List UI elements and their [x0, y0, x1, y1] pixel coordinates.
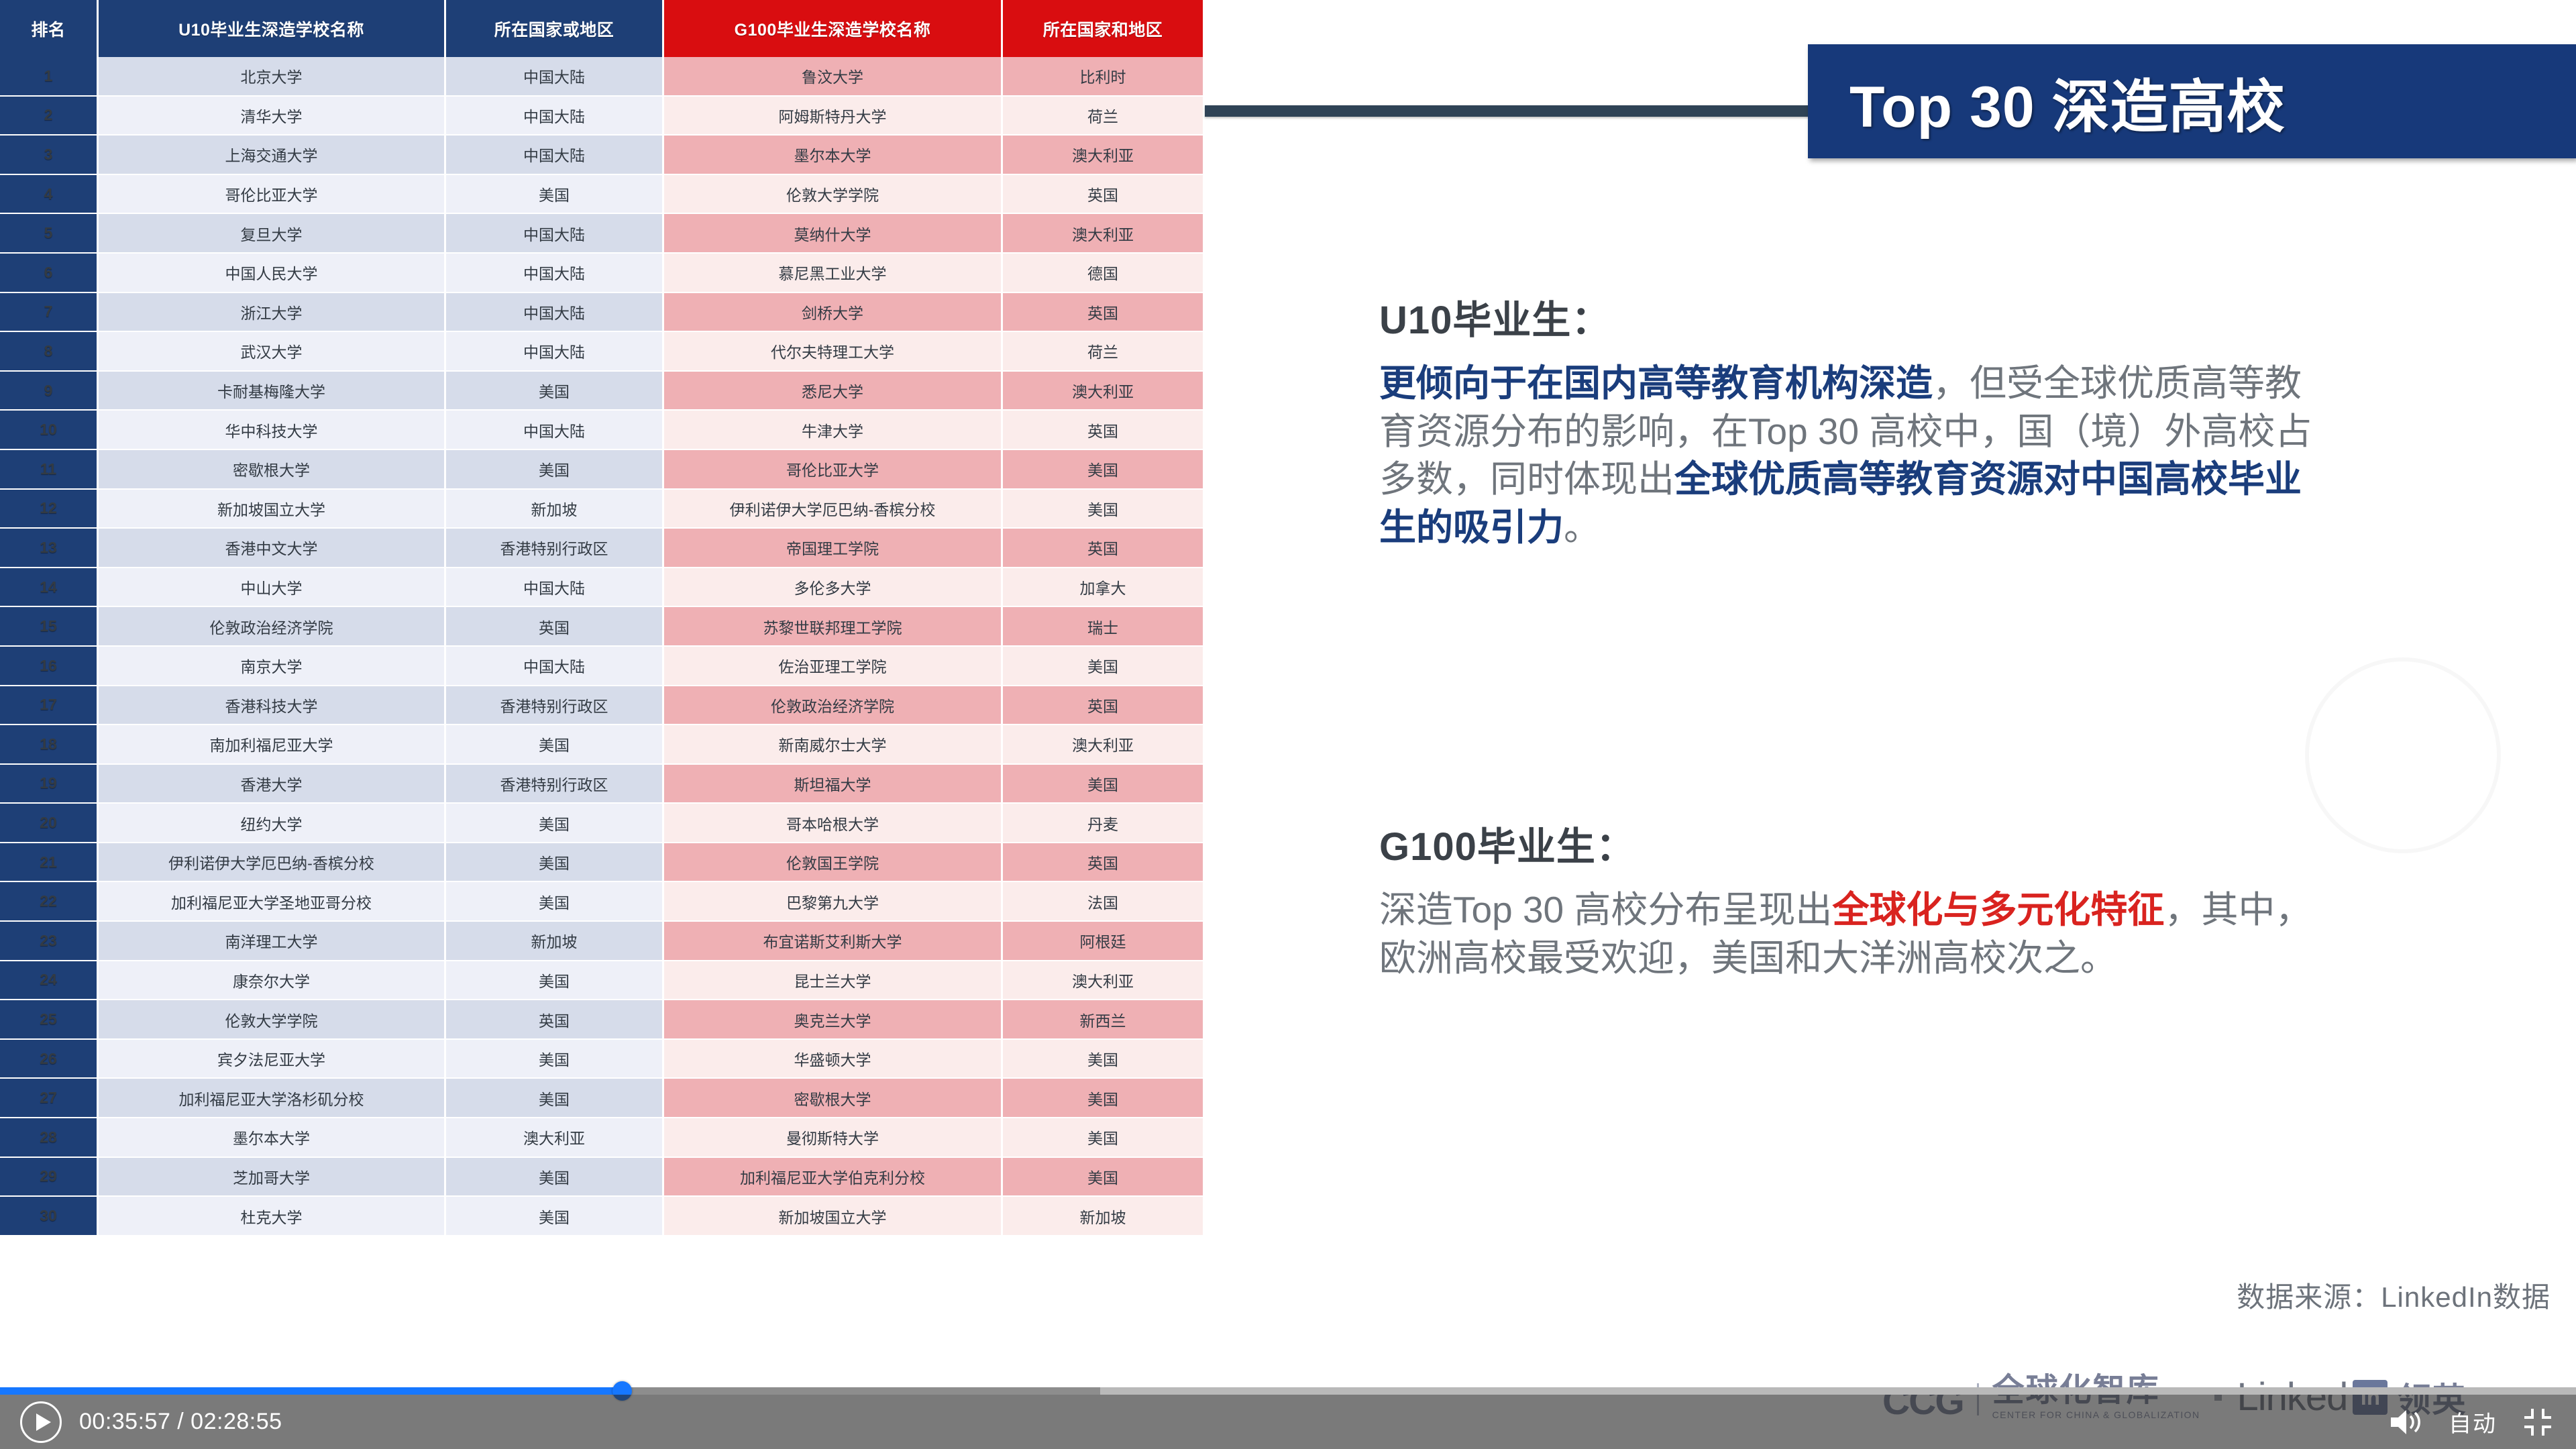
cell-rank: 30 — [0, 1197, 99, 1236]
table-row: 26宾夕法尼亚大学美国华盛顿大学美国 — [0, 1040, 1205, 1079]
cell-g100-school: 奥克兰大学 — [664, 1000, 1003, 1040]
cell-u10-country: 美国 — [446, 450, 664, 490]
cell-g100-country: 法国 — [1003, 882, 1205, 922]
cell-g100-school: 苏黎世联邦理工学院 — [664, 607, 1003, 647]
table-row: 30杜克大学美国新加坡国立大学新加坡 — [0, 1197, 1205, 1236]
cell-u10-school: 复旦大学 — [99, 214, 446, 254]
column-header-g100-school: G100毕业生深造学校名称 — [664, 0, 1003, 57]
table-row: 28墨尔本大学澳大利亚曼彻斯特大学美国 — [0, 1118, 1205, 1158]
cell-u10-country: 新加坡 — [446, 490, 664, 529]
cell-rank: 6 — [0, 254, 99, 293]
cell-u10-school: 加利福尼亚大学洛杉矶分校 — [99, 1079, 446, 1118]
cell-g100-school: 伦敦政治经济学院 — [664, 686, 1003, 726]
cell-rank: 12 — [0, 490, 99, 529]
cell-g100-country: 英国 — [1003, 686, 1205, 726]
cell-u10-country: 美国 — [446, 1040, 664, 1079]
cell-u10-country: 美国 — [446, 1158, 664, 1197]
cell-u10-country: 香港特别行政区 — [446, 765, 664, 804]
cell-g100-school: 阿姆斯特丹大学 — [664, 97, 1003, 136]
cell-u10-country: 中国大陆 — [446, 647, 664, 686]
table-row: 23南洋理工大学新加坡布宜诺斯艾利斯大学阿根廷 — [0, 922, 1205, 961]
table-row: 19香港大学香港特别行政区斯坦福大学美国 — [0, 765, 1205, 804]
cell-g100-country: 英国 — [1003, 411, 1205, 450]
table-row: 17香港科技大学香港特别行政区伦敦政治经济学院英国 — [0, 686, 1205, 726]
column-header-u10-school: U10毕业生深造学校名称 — [99, 0, 446, 57]
cell-u10-country: 中国大陆 — [446, 254, 664, 293]
cell-u10-country: 美国 — [446, 882, 664, 922]
cell-g100-country: 英国 — [1003, 175, 1205, 215]
u10-text-block: U10毕业生： 更倾向于在国内高等教育机构深造，但受全球优质高等教育资源分布的影… — [1379, 288, 2332, 551]
cell-rank: 23 — [0, 922, 99, 961]
cell-g100-school: 伦敦大学学院 — [664, 175, 1003, 215]
cell-rank: 18 — [0, 725, 99, 765]
cell-g100-country: 瑞士 — [1003, 607, 1205, 647]
cell-rank: 2 — [0, 97, 99, 136]
cell-g100-country: 加拿大 — [1003, 568, 1205, 608]
cell-g100-school: 帝国理工学院 — [664, 529, 1003, 568]
cell-u10-country: 美国 — [446, 1079, 664, 1118]
cell-u10-school: 北京大学 — [99, 57, 446, 97]
volume-icon[interactable] — [2388, 1407, 2423, 1437]
cell-u10-country: 中国大陆 — [446, 411, 664, 450]
cell-u10-country: 美国 — [446, 843, 664, 883]
cell-rank: 28 — [0, 1118, 99, 1158]
time-display: 00:35:57 / 02:28:55 — [79, 1409, 282, 1435]
cell-g100-school: 悉尼大学 — [664, 372, 1003, 411]
cell-u10-school: 宾夕法尼亚大学 — [99, 1040, 446, 1079]
right-panel: Top 30 深造高校 U10毕业生： 更倾向于在国内高等教育机构深造，但受全球… — [1205, 0, 2576, 1449]
cell-u10-school: 中国人民大学 — [99, 254, 446, 293]
cell-u10-country: 英国 — [446, 607, 664, 647]
slide-canvas: 排名 U10毕业生深造学校名称 所在国家或地区 G100毕业生深造学校名称 所在… — [0, 0, 2576, 1449]
cell-u10-school: 清华大学 — [99, 97, 446, 136]
cell-g100-school: 华盛顿大学 — [664, 1040, 1003, 1079]
cell-u10-school: 南加利福尼亚大学 — [99, 725, 446, 765]
g100-plain-1: 深造Top 30 高校分布呈现出 — [1379, 889, 1832, 930]
cell-g100-country: 美国 — [1003, 647, 1205, 686]
u10-highlight-1: 更倾向于在国内高等教育机构深造 — [1379, 362, 1933, 404]
table-row: 27加利福尼亚大学洛杉矶分校美国密歇根大学美国 — [0, 1079, 1205, 1118]
cell-g100-country: 美国 — [1003, 1040, 1205, 1079]
cell-g100-country: 美国 — [1003, 1158, 1205, 1197]
table-row: 14中山大学中国大陆多伦多大学加拿大 — [0, 568, 1205, 608]
cell-u10-school: 武汉大学 — [99, 332, 446, 372]
u10-body: 更倾向于在国内高等教育机构深造，但受全球优质高等教育资源分布的影响，在Top 3… — [1379, 360, 2332, 551]
cell-rank: 21 — [0, 843, 99, 883]
cell-rank: 9 — [0, 372, 99, 411]
cell-g100-country: 比利时 — [1003, 57, 1205, 97]
table-row: 4哥伦比亚大学美国伦敦大学学院英国 — [0, 175, 1205, 215]
cell-u10-school: 密歇根大学 — [99, 450, 446, 490]
cell-u10-school: 加利福尼亚大学圣地亚哥分校 — [99, 882, 446, 922]
cell-rank: 29 — [0, 1158, 99, 1197]
table-row: 22加利福尼亚大学圣地亚哥分校美国巴黎第九大学法国 — [0, 882, 1205, 922]
cell-rank: 24 — [0, 961, 99, 1001]
cell-u10-school: 香港科技大学 — [99, 686, 446, 726]
cell-u10-school: 纽约大学 — [99, 804, 446, 843]
quality-selector[interactable]: 自动 — [2449, 1405, 2497, 1438]
cell-rank: 11 — [0, 450, 99, 490]
cell-g100-school: 多伦多大学 — [664, 568, 1003, 608]
table-row: 18南加利福尼亚大学美国新南威尔士大学澳大利亚 — [0, 725, 1205, 765]
table-row: 1北京大学中国大陆鲁汶大学比利时 — [0, 57, 1205, 97]
table-row: 29芝加哥大学美国加利福尼亚大学伯克利分校美国 — [0, 1158, 1205, 1197]
cell-rank: 13 — [0, 529, 99, 568]
cell-g100-country: 德国 — [1003, 254, 1205, 293]
cell-g100-school: 加利福尼亚大学伯克利分校 — [664, 1158, 1003, 1197]
cell-rank: 20 — [0, 804, 99, 843]
cell-u10-school: 浙江大学 — [99, 293, 446, 333]
cell-rank: 4 — [0, 175, 99, 215]
cell-rank: 14 — [0, 568, 99, 608]
page-title: Top 30 深造高校 — [1808, 60, 2286, 144]
watermark-circle — [2305, 657, 2501, 853]
cell-g100-school: 鲁汶大学 — [664, 57, 1003, 97]
table-header: 排名 U10毕业生深造学校名称 所在国家或地区 G100毕业生深造学校名称 所在… — [0, 0, 1205, 57]
cell-g100-school: 斯坦福大学 — [664, 765, 1003, 804]
cell-g100-country: 丹麦 — [1003, 804, 1205, 843]
ranking-table: 排名 U10毕业生深造学校名称 所在国家或地区 G100毕业生深造学校名称 所在… — [0, 0, 1205, 1236]
cell-g100-school: 牛津大学 — [664, 411, 1003, 450]
table-row: 21伊利诺伊大学厄巴纳-香槟分校美国伦敦国王学院英国 — [0, 843, 1205, 883]
cell-u10-country: 中国大陆 — [446, 214, 664, 254]
cell-rank: 7 — [0, 293, 99, 333]
cell-g100-country: 阿根廷 — [1003, 922, 1205, 961]
cell-g100-country: 新西兰 — [1003, 1000, 1205, 1040]
cell-u10-school: 华中科技大学 — [99, 411, 446, 450]
cell-u10-country: 中国大陆 — [446, 97, 664, 136]
cell-u10-school: 芝加哥大学 — [99, 1158, 446, 1197]
cell-u10-school: 哥伦比亚大学 — [99, 175, 446, 215]
cell-u10-country: 澳大利亚 — [446, 1118, 664, 1158]
cell-g100-country: 荷兰 — [1003, 332, 1205, 372]
cell-g100-country: 英国 — [1003, 843, 1205, 883]
cell-g100-school: 伊利诺伊大学厄巴纳-香槟分校 — [664, 490, 1003, 529]
cell-u10-country: 美国 — [446, 1197, 664, 1236]
table-row: 25伦敦大学学院英国奥克兰大学新西兰 — [0, 1000, 1205, 1040]
cell-g100-country: 澳大利亚 — [1003, 372, 1205, 411]
cell-u10-school: 伦敦政治经济学院 — [99, 607, 446, 647]
cell-g100-country: 美国 — [1003, 1079, 1205, 1118]
cell-u10-school: 新加坡国立大学 — [99, 490, 446, 529]
cell-u10-country: 中国大陆 — [446, 136, 664, 175]
cell-g100-country: 美国 — [1003, 1118, 1205, 1158]
cell-g100-school: 昆士兰大学 — [664, 961, 1003, 1001]
cell-g100-school: 墨尔本大学 — [664, 136, 1003, 175]
cell-g100-school: 佐治亚理工学院 — [664, 647, 1003, 686]
cell-g100-school: 布宜诺斯艾利斯大学 — [664, 922, 1003, 961]
cell-u10-country: 美国 — [446, 372, 664, 411]
table-row: 8武汉大学中国大陆代尔夫特理工大学荷兰 — [0, 332, 1205, 372]
cell-u10-country: 中国大陆 — [446, 57, 664, 97]
cell-rank: 5 — [0, 214, 99, 254]
play-triangle — [36, 1413, 51, 1431]
table-row: 9卡耐基梅隆大学美国悉尼大学澳大利亚 — [0, 372, 1205, 411]
player-right-controls: 自动 — [2388, 1405, 2576, 1438]
cell-u10-country: 美国 — [446, 175, 664, 215]
table-row: 2清华大学中国大陆阿姆斯特丹大学荷兰 — [0, 97, 1205, 136]
cell-u10-school: 墨尔本大学 — [99, 1118, 446, 1158]
cell-g100-school: 巴黎第九大学 — [664, 882, 1003, 922]
title-banner: Top 30 深造高校 — [1808, 44, 2576, 158]
cell-g100-country: 新加坡 — [1003, 1197, 1205, 1236]
cell-u10-country: 英国 — [446, 1000, 664, 1040]
g100-text-block: G100毕业生： 深造Top 30 高校分布呈现出全球化与多元化特征，其中，欧洲… — [1379, 815, 2332, 982]
g100-heading: G100毕业生： — [1379, 815, 2332, 871]
cell-u10-school: 卡耐基梅隆大学 — [99, 372, 446, 411]
cell-rank: 27 — [0, 1079, 99, 1118]
table-header-row: 排名 U10毕业生深造学校名称 所在国家或地区 G100毕业生深造学校名称 所在… — [0, 0, 1205, 57]
column-header-g100-country: 所在国家和地区 — [1003, 0, 1205, 57]
exit-fullscreen-icon[interactable] — [2522, 1407, 2553, 1438]
cell-u10-country: 香港特别行政区 — [446, 529, 664, 568]
cell-u10-school: 伦敦大学学院 — [99, 1000, 446, 1040]
ranking-table-panel: 排名 U10毕业生深造学校名称 所在国家或地区 G100毕业生深造学校名称 所在… — [0, 0, 1205, 1449]
cell-rank: 22 — [0, 882, 99, 922]
cell-g100-school: 哥伦比亚大学 — [664, 450, 1003, 490]
g100-highlight-1: 全球化与多元化特征 — [1832, 889, 2164, 930]
progress-bar-played — [0, 1387, 621, 1395]
cell-u10-school: 中山大学 — [99, 568, 446, 608]
cell-rank: 25 — [0, 1000, 99, 1040]
cell-u10-country: 美国 — [446, 961, 664, 1001]
table-row: 3上海交通大学中国大陆墨尔本大学澳大利亚 — [0, 136, 1205, 175]
cell-g100-country: 美国 — [1003, 765, 1205, 804]
cell-g100-country: 美国 — [1003, 450, 1205, 490]
cell-g100-country: 澳大利亚 — [1003, 136, 1205, 175]
cell-u10-country: 中国大陆 — [446, 332, 664, 372]
g100-body: 深造Top 30 高校分布呈现出全球化与多元化特征，其中，欧洲高校最受欢迎，美国… — [1379, 886, 2332, 982]
cell-u10-country: 中国大陆 — [446, 293, 664, 333]
cell-u10-school: 杜克大学 — [99, 1197, 446, 1236]
cell-rank: 8 — [0, 332, 99, 372]
cell-g100-school: 新加坡国立大学 — [664, 1197, 1003, 1236]
table-row: 10华中科技大学中国大陆牛津大学英国 — [0, 411, 1205, 450]
table-row: 7浙江大学中国大陆剑桥大学英国 — [0, 293, 1205, 333]
cell-u10-country: 美国 — [446, 804, 664, 843]
cell-rank: 26 — [0, 1040, 99, 1079]
u10-heading: U10毕业生： — [1379, 288, 2332, 345]
cell-g100-country: 澳大利亚 — [1003, 725, 1205, 765]
cell-u10-school: 康奈尔大学 — [99, 961, 446, 1001]
cell-g100-school: 哥本哈根大学 — [664, 804, 1003, 843]
cell-g100-school: 密歇根大学 — [664, 1079, 1003, 1118]
cell-g100-country: 澳大利亚 — [1003, 961, 1205, 1001]
play-icon[interactable] — [20, 1401, 62, 1443]
cell-u10-school: 伊利诺伊大学厄巴纳-香槟分校 — [99, 843, 446, 883]
progress-bar-track[interactable] — [0, 1387, 2576, 1395]
cell-rank: 3 — [0, 136, 99, 175]
cell-u10-school: 上海交通大学 — [99, 136, 446, 175]
table-row: 12新加坡国立大学新加坡伊利诺伊大学厄巴纳-香槟分校美国 — [0, 490, 1205, 529]
cell-u10-country: 中国大陆 — [446, 568, 664, 608]
table-row: 11密歇根大学美国哥伦比亚大学美国 — [0, 450, 1205, 490]
cell-g100-school: 慕尼黑工业大学 — [664, 254, 1003, 293]
cell-u10-school: 香港中文大学 — [99, 529, 446, 568]
table-row: 6中国人民大学中国大陆慕尼黑工业大学德国 — [0, 254, 1205, 293]
cell-g100-country: 英国 — [1003, 529, 1205, 568]
table-row: 20纽约大学美国哥本哈根大学丹麦 — [0, 804, 1205, 843]
cell-g100-country: 英国 — [1003, 293, 1205, 333]
cell-g100-country: 澳大利亚 — [1003, 214, 1205, 254]
cell-u10-country: 美国 — [446, 725, 664, 765]
title-rule-line — [1205, 105, 1822, 117]
table-row: 13香港中文大学香港特别行政区帝国理工学院英国 — [0, 529, 1205, 568]
column-header-u10-country: 所在国家或地区 — [446, 0, 664, 57]
cell-rank: 1 — [0, 57, 99, 97]
u10-plain-2: 。 — [1564, 506, 1601, 548]
table-row: 15伦敦政治经济学院英国苏黎世联邦理工学院瑞士 — [0, 607, 1205, 647]
cell-u10-country: 香港特别行政区 — [446, 686, 664, 726]
cell-g100-country: 美国 — [1003, 490, 1205, 529]
table-row: 5复旦大学中国大陆莫纳什大学澳大利亚 — [0, 214, 1205, 254]
cell-g100-school: 代尔夫特理工大学 — [664, 332, 1003, 372]
table-body: 1北京大学中国大陆鲁汶大学比利时2清华大学中国大陆阿姆斯特丹大学荷兰3上海交通大… — [0, 57, 1205, 1236]
cell-g100-country: 荷兰 — [1003, 97, 1205, 136]
cell-g100-school: 新南威尔士大学 — [664, 725, 1003, 765]
cell-g100-school: 伦敦国王学院 — [664, 843, 1003, 883]
cell-u10-country: 新加坡 — [446, 922, 664, 961]
player-control-bar: 00:35:57 / 02:28:55 自动 — [0, 1395, 2576, 1449]
data-source-note: 数据来源：LinkedIn数据 — [2237, 1275, 2551, 1316]
table-row: 16南京大学中国大陆佐治亚理工学院美国 — [0, 647, 1205, 686]
cell-rank: 17 — [0, 686, 99, 726]
table-row: 24康奈尔大学美国昆士兰大学澳大利亚 — [0, 961, 1205, 1001]
column-header-rank: 排名 — [0, 0, 99, 57]
cell-rank: 19 — [0, 765, 99, 804]
cell-g100-school: 剑桥大学 — [664, 293, 1003, 333]
cell-u10-school: 香港大学 — [99, 765, 446, 804]
cell-rank: 10 — [0, 411, 99, 450]
cell-g100-school: 曼彻斯特大学 — [664, 1118, 1003, 1158]
cell-g100-school: 莫纳什大学 — [664, 214, 1003, 254]
cell-rank: 16 — [0, 647, 99, 686]
cell-u10-school: 南京大学 — [99, 647, 446, 686]
cell-rank: 15 — [0, 607, 99, 647]
cell-u10-school: 南洋理工大学 — [99, 922, 446, 961]
